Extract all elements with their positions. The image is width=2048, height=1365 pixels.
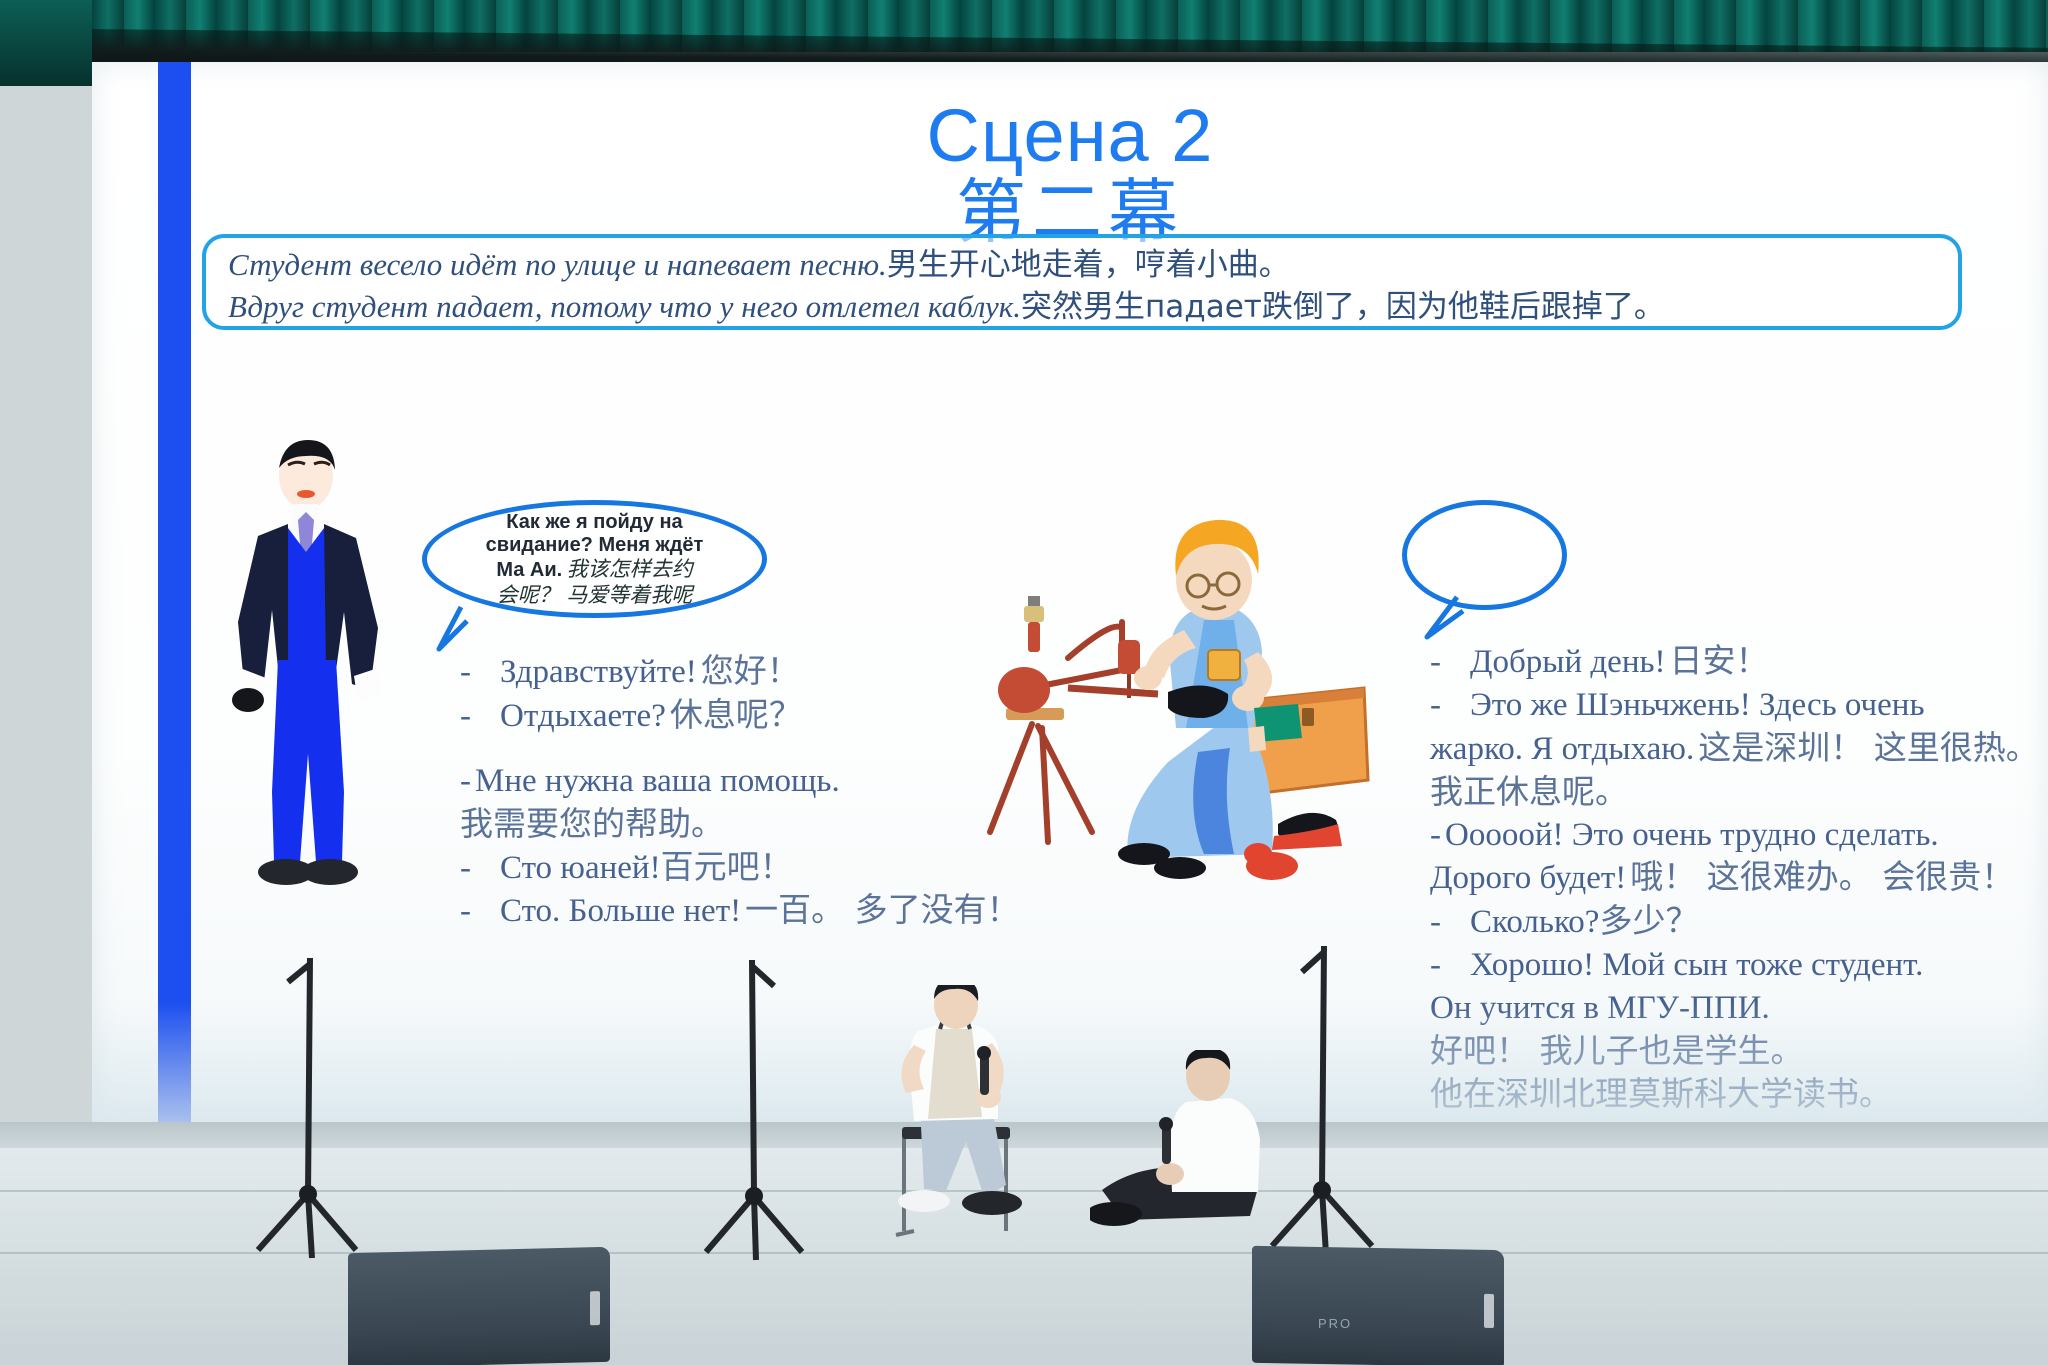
stage-monitor-right [1252,1246,1504,1365]
dialog-left-cn-1: 休息呢？ [670,695,802,734]
dialog-left-line-5: -Сто. Больше нет! 一百。 多了没有！ [460,889,1020,933]
dialog-left-line-4: -Сто юаней!百元吧！ [460,846,1020,890]
dialog-right-cn-6: 多少？ [1599,901,1698,940]
narration-box: Студент весело идёт по улице и напевает … [202,234,1962,330]
dialog-left-dash-0: - [460,651,500,694]
curtain-left-wing [0,0,92,86]
dialog-right-ru-2: жарко. Я отдыхаю. [1430,731,1694,767]
narration-line-2-chinese: 突然男生падает跌倒了，因为他鞋后跟掉了。 [1021,289,1665,325]
dialog-right-cn-9: 好吧！ 我儿子也是学生。 [1430,1031,1804,1070]
stage-monitor-right-brand: PRO [1318,1316,1352,1331]
dialog-right-line-8: Он учится в МГУ-ППИ. [1430,987,2048,1030]
dialog-right-cn-10: 他在深圳北理莫斯科大学读书。 [1430,1074,1892,1113]
dialog-column-left: -Здравствуйте! 您好！ -Отдыхаете? 休息呢？ - Мн… [460,650,1020,933]
dialog-left-dash-5: - [460,890,500,933]
stage-photograph: Сцена 2 第二幕 Студент весело идёт по улице… [0,0,2048,1365]
bubble-left-ru-3: Ма Аи. [496,559,562,581]
dialog-right-cn-5: 哦！ 这很难办。 会很贵！ [1630,857,2014,896]
dialog-right-line-2: жарко. Я отдыхаю. 这是深圳！ 这里很热。 [1430,727,2048,771]
dialog-right-cn-3: 我正休息呢。 [1430,772,1628,811]
dialog-left-ru-0: Здравствуйте! [500,654,697,690]
dialog-left-line-2: - Мне нужна ваша помощь. [460,760,1020,803]
dialog-right-dash-7: - [1430,944,1470,987]
dialog-right-ru-0: Добрый день! [1470,644,1666,680]
dialog-right-line-1: -Это же Шэньчжень! Здесь очень [1430,684,2048,727]
mic-stand-right [1268,946,1378,1271]
dialog-right-cn-2: 这是深圳！ 这里很热。 [1698,728,2039,767]
dialog-left-gap [460,738,1020,760]
dialog-right-ru-4: Ооооой! Это очень трудно сделать. [1445,817,1939,853]
projection-screen: Сцена 2 第二幕 Студент весело идёт по улице… [92,62,2048,1122]
dialog-right-ru-8: Он учится в МГУ-ППИ. [1430,990,1770,1026]
dialog-right-dash-6: - [1430,901,1470,944]
slide-title-russian: Сцена 2 [92,98,2048,173]
dialog-right-dash-1: - [1430,684,1470,727]
dialog-left-cn-5: 一百。 多了没有！ [745,890,1020,929]
dialog-left-dash-1: - [460,695,500,738]
illustration-young-man [202,432,412,912]
dialog-left-cn-3: 我需要您的帮助。 [460,804,724,843]
mic-stand-center [700,960,810,1277]
bubble-left-line-3: Ма Аи. 我该怎样去约 [486,557,704,582]
dialog-left-line-3: 我需要您的帮助。 [460,803,1020,846]
narration-line-1: Студент весело идёт по улице и напевает … [228,244,1936,286]
speech-bubble-right-tail [1413,593,1483,643]
narration-line-2: Вдруг студент падает, потому что у него … [228,286,1936,328]
narration-line-1-russian: Студент весело идёт по улице и напевает … [228,247,887,282]
dialog-left-line-0: -Здравствуйте! 您好！ [460,650,1020,694]
performer-on-chair [880,985,1110,1250]
dialog-column-right: -Добрый день! 日安！ -Это же Шэньчжень! Зде… [1430,640,2048,1116]
bubble-left-ru-2: свидание? Меня ждёт [486,534,704,557]
dialog-right-ru-1: Это же Шэньчжень! Здесь очень [1470,687,1925,723]
narration-line-2-russian: Вдруг студент падает, потому что у него … [228,289,1021,324]
dialog-left-ru-1: Отдыхаете? [500,698,666,734]
dialog-right-line-5: Дорого будет! 哦！ 这很难办。 会很贵！ [1430,856,2048,900]
dialog-right-line-6: -Сколько?多少？ [1430,900,2048,944]
bubble-left-ru-1: Как же я пойду на [486,511,704,534]
dialog-right-ru-6: Сколько? [1470,904,1599,940]
stage-monitor-left [348,1247,610,1365]
speech-bubble-left-tail [421,601,491,653]
dialog-right-ru-7: Хорошо! Мой сын тоже студент. [1470,947,1923,983]
dialog-left-cn-0: 您好！ [701,651,800,690]
dialog-left-cn-4: 百元吧！ [661,847,793,886]
mic-stand-left [252,958,362,1275]
bubble-left-cn-2: 会呢？ 马爱等着我呢 [486,583,704,607]
dialog-left-line-1: -Отдыхаете? 休息呢？ [460,694,1020,738]
dialog-left-dash-4: - [460,847,500,890]
dialog-right-dash-0: - [1430,641,1470,684]
dialog-right-line-9: 好吧！ 我儿子也是学生。 [1430,1030,2048,1073]
speech-bubble-right [1402,500,1567,610]
dialog-left-dash-2: - [460,763,471,799]
dialog-left-ru-2: Мне нужна ваша помощь. [475,763,840,799]
dialog-right-line-3: 我正休息呢。 [1430,771,2048,814]
dialog-right-line-0: -Добрый день! 日安！ [1430,640,2048,684]
speech-bubble-left: Как же я пойду на свидание? Меня ждёт Ма… [422,500,767,618]
illustration-cobbler [972,502,1402,912]
dialog-right-line-10: 他在深圳北理莫斯科大学读书。 [1430,1073,2048,1116]
narration-line-1-chinese: 男生开心地走着，哼着小曲。 [887,247,1290,283]
bubble-left-cn-1: 我该怎样去约 [567,557,693,581]
slide-title-block: Сцена 2 第二幕 [92,98,2048,252]
dialog-right-dash-4: - [1430,817,1441,853]
dialog-right-line-4: - Ооооой! Это очень трудно сделать. [1430,814,2048,857]
dialog-right-line-7: -Хорошо! Мой сын тоже студент. [1430,944,2048,987]
dialog-left-ru-4: Сто юаней! [500,850,661,886]
dialog-right-ru-5: Дорого будет! [1430,860,1626,896]
dialog-right-cn-0: 日安！ [1670,641,1769,680]
dialog-left-ru-5: Сто. Больше нет! [500,893,741,929]
